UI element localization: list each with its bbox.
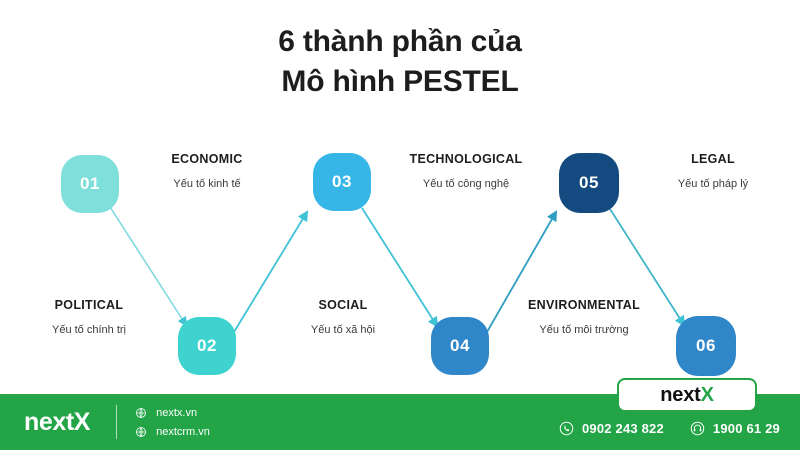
- node-03-number: 03: [332, 172, 352, 192]
- label-social-subtitle: Yếu tố xã hội: [268, 324, 418, 337]
- footer-urls: nextx.vn nextcrm.vn: [135, 407, 210, 438]
- label-legal-subtitle: Yếu tố pháp lý: [638, 178, 788, 191]
- footer-phone-text: 0902 243 822: [582, 421, 664, 436]
- nextx-badge-main: next: [660, 384, 700, 406]
- label-economic: ECONOMIC Yếu tố kinh tế: [132, 152, 282, 191]
- label-political: POLITICAL Yếu tố chính trị: [14, 298, 164, 337]
- label-technological: TECHNOLOGICAL Yếu tố công nghệ: [376, 152, 556, 191]
- label-political-title: POLITICAL: [14, 298, 164, 313]
- label-economic-title: ECONOMIC: [132, 152, 282, 167]
- label-technological-title: TECHNOLOGICAL: [376, 152, 556, 167]
- nextx-badge-accent: X: [701, 384, 714, 406]
- footer-phone-text: 1900 61 29: [713, 421, 780, 436]
- label-technological-subtitle: Yếu tố công nghệ: [376, 178, 556, 191]
- footer-url-row[interactable]: nextcrm.vn: [135, 426, 210, 438]
- label-social-title: SOCIAL: [268, 298, 418, 313]
- label-legal: LEGAL Yếu tố pháp lý: [638, 152, 788, 191]
- nextx-badge: nextX: [617, 378, 757, 412]
- infographic-canvas: 6 thành phần của Mô hình PESTEL: [0, 0, 800, 450]
- node-03[interactable]: 03: [313, 153, 371, 211]
- footer-phone-row[interactable]: 0902 243 822: [559, 421, 664, 436]
- label-environmental-subtitle: Yếu tố môi trường: [494, 324, 674, 337]
- node-05-number: 05: [579, 173, 599, 193]
- node-04[interactable]: 04: [431, 317, 489, 375]
- label-political-subtitle: Yếu tố chính trị: [14, 324, 164, 337]
- label-environmental: ENVIRONMENTAL Yếu tố môi trường: [494, 298, 674, 337]
- node-01[interactable]: 01: [61, 155, 119, 213]
- footer-divider: [116, 405, 117, 439]
- globe-icon: [135, 407, 147, 419]
- node-04-number: 04: [450, 336, 470, 356]
- node-02[interactable]: 02: [178, 317, 236, 375]
- footer-url-text: nextcrm.vn: [156, 426, 210, 438]
- hotline-icon: [690, 421, 705, 436]
- node-06[interactable]: 06: [676, 316, 736, 376]
- footer-url-row[interactable]: nextx.vn: [135, 407, 210, 419]
- label-environmental-title: ENVIRONMENTAL: [494, 298, 674, 313]
- label-social: SOCIAL Yếu tố xã hội: [268, 298, 418, 337]
- phone-icon: [559, 421, 574, 436]
- footer-logo: nextX: [24, 408, 90, 437]
- node-06-number: 06: [696, 336, 716, 356]
- node-01-number: 01: [80, 174, 100, 194]
- label-economic-subtitle: Yếu tố kinh tế: [132, 178, 282, 191]
- footer-url-text: nextx.vn: [156, 407, 197, 419]
- node-05[interactable]: 05: [559, 153, 619, 213]
- nextx-badge-text: nextX: [660, 384, 713, 407]
- globe-icon: [135, 426, 147, 438]
- node-02-number: 02: [197, 336, 217, 356]
- footer-phone-row[interactable]: 1900 61 29: [690, 421, 780, 436]
- label-legal-title: LEGAL: [638, 152, 788, 167]
- footer-phones: 0902 243 822 1900 61 29: [559, 421, 780, 436]
